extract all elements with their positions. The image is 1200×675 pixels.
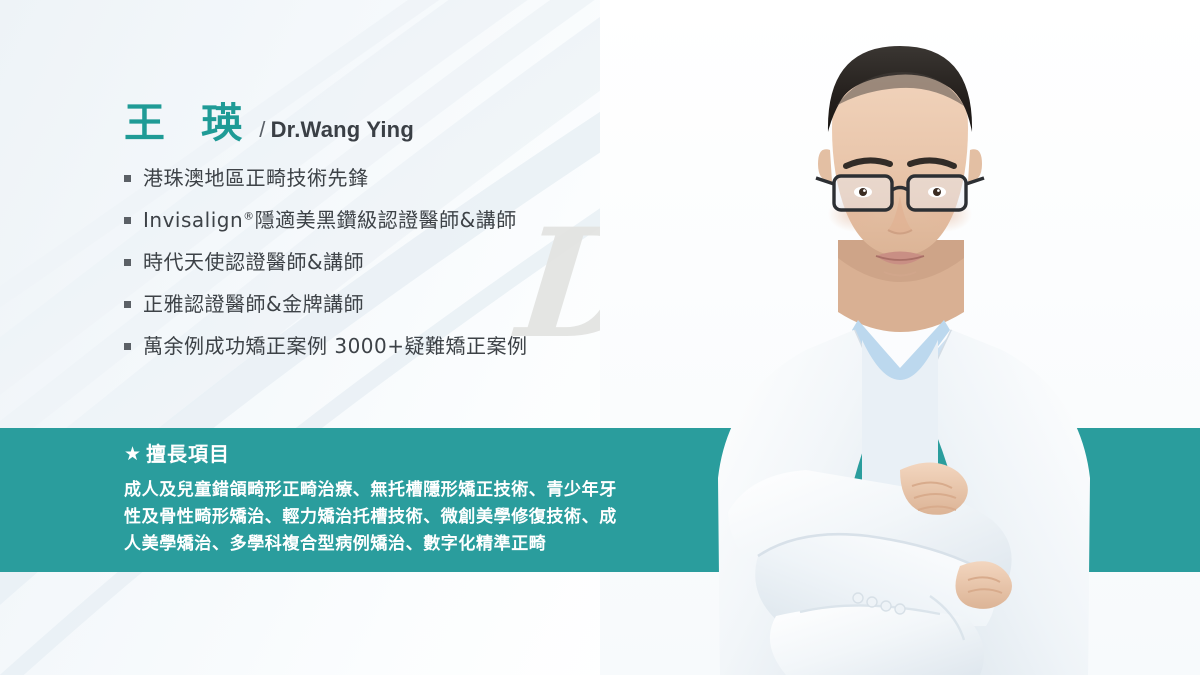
specialties-title-row: ★ 擅長項目 (124, 444, 644, 464)
credential-text: 時代天使認證醫師&講師 (143, 252, 364, 272)
credential-text: Invisalign®隱適美黑鑽級認證醫師&講師 (143, 210, 517, 230)
bullet-square-icon (124, 259, 131, 266)
list-item: Invisalign®隱適美黑鑽級認證醫師&講師 (124, 210, 644, 230)
bullet-square-icon (124, 343, 131, 350)
doctor-name-en-text: Dr.Wang Ying (271, 117, 414, 142)
credential-text: 港珠澳地區正畸技術先鋒 (143, 168, 369, 188)
credential-text: 正雅認證醫師&金牌講師 (143, 294, 364, 314)
poster-canvas: DOCTOR (0, 0, 1200, 675)
doctor-name-cn: 王 瑛 (124, 103, 253, 144)
doctor-name-row: 王 瑛 /Dr.Wang Ying (124, 103, 644, 144)
specialties-title: 擅長項目 (146, 444, 230, 464)
specialties-body: 成人及兒童錯頜畸形正畸治療、無托槽隱形矯正技術、青少年牙性及骨性畸形矯治、輕力矯… (124, 477, 629, 558)
doctor-name-en: /Dr.Wang Ying (259, 119, 414, 141)
name-separator: / (259, 117, 265, 142)
credential-text: 萬余例成功矯正案例 3000+疑難矯正案例 (143, 336, 528, 356)
credentials-list: 港珠澳地區正畸技術先鋒 Invisalign®隱適美黑鑽級認證醫師&講師 時代天… (124, 168, 644, 356)
list-item: 正雅認證醫師&金牌講師 (124, 294, 644, 314)
doctor-portrait-photo (600, 0, 1200, 675)
bullet-square-icon (124, 217, 131, 224)
doctor-info-block: 王 瑛 /Dr.Wang Ying 港珠澳地區正畸技術先鋒 Invisalign… (124, 103, 644, 378)
bullet-square-icon (124, 301, 131, 308)
list-item: 萬余例成功矯正案例 3000+疑難矯正案例 (124, 336, 644, 356)
list-item: 時代天使認證醫師&講師 (124, 252, 644, 272)
bullet-square-icon (124, 175, 131, 182)
specialties-content: ★ 擅長項目 成人及兒童錯頜畸形正畸治療、無托槽隱形矯正技術、青少年牙性及骨性畸… (124, 444, 644, 558)
star-icon: ★ (124, 445, 142, 464)
list-item: 港珠澳地區正畸技術先鋒 (124, 168, 644, 188)
